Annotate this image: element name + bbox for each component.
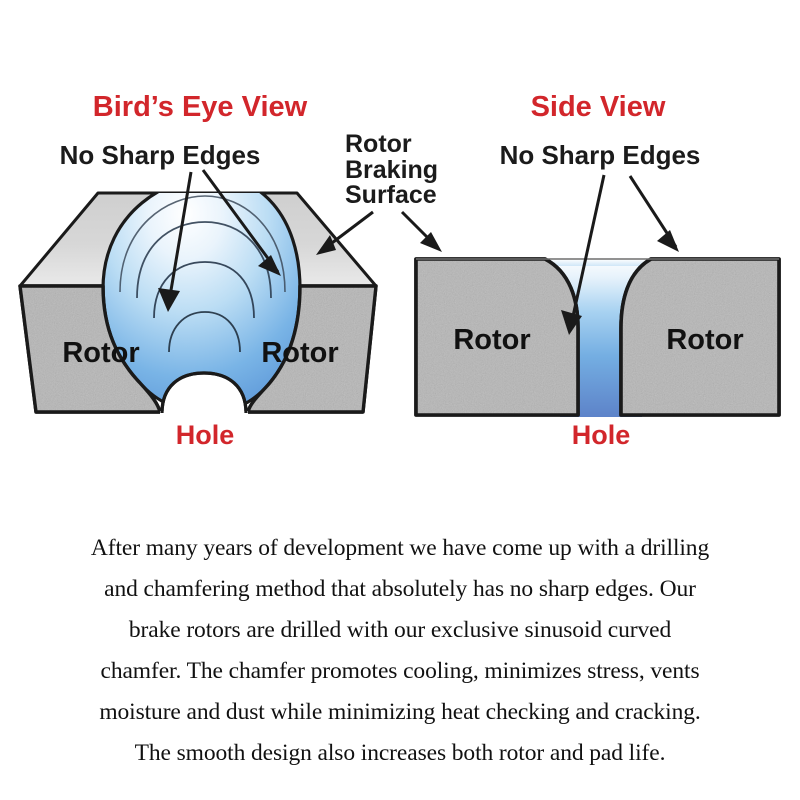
birds-eye-view-group: Bird’s Eye View No Sharp Edges Rotor Bra… [20, 91, 438, 450]
rotor-braking-surface-label-line2: Braking [345, 156, 438, 184]
arrow-side-no-sharp-edges-b [630, 176, 679, 252]
rotor-label-right-side: Rotor [666, 324, 743, 356]
rotor-label-left-bird: Rotor [62, 337, 139, 369]
caption-paragraph: After many years of development we have … [8, 528, 792, 774]
rotor-braking-surface-label-line1: Rotor [345, 130, 412, 158]
caption-line: After many years of development we have … [8, 528, 792, 569]
caption-line: chamfer. The chamfer promotes cooling, m… [8, 651, 792, 692]
left-no-sharp-edges-label: No Sharp Edges [60, 140, 261, 170]
hole-label-bird: Hole [176, 420, 235, 450]
rotor-label-left-side: Rotor [453, 324, 530, 356]
caption-line: The smooth design also increases both ro… [8, 733, 792, 774]
caption-line: brake rotors are drilled with our exclus… [8, 610, 792, 651]
side-view-group: Side View No Sharp Edges Rotor Rotor Hol… [402, 91, 779, 450]
rotor-label-right-bird: Rotor [261, 337, 338, 369]
caption-line: moisture and dust while minimizing heat … [8, 692, 792, 733]
hole-label-side: Hole [572, 420, 631, 450]
birds-eye-view-title: Bird’s Eye View [93, 91, 308, 123]
right-no-sharp-edges-label: No Sharp Edges [500, 140, 701, 170]
arrow-side-braking-surface [402, 212, 442, 252]
rotor-braking-surface-label-line3: Surface [345, 181, 437, 209]
figure-page: Bird’s Eye View No Sharp Edges Rotor Bra… [0, 0, 800, 800]
side-view-title: Side View [531, 91, 666, 123]
caption-line: and chamfering method that absolutely ha… [8, 569, 792, 610]
